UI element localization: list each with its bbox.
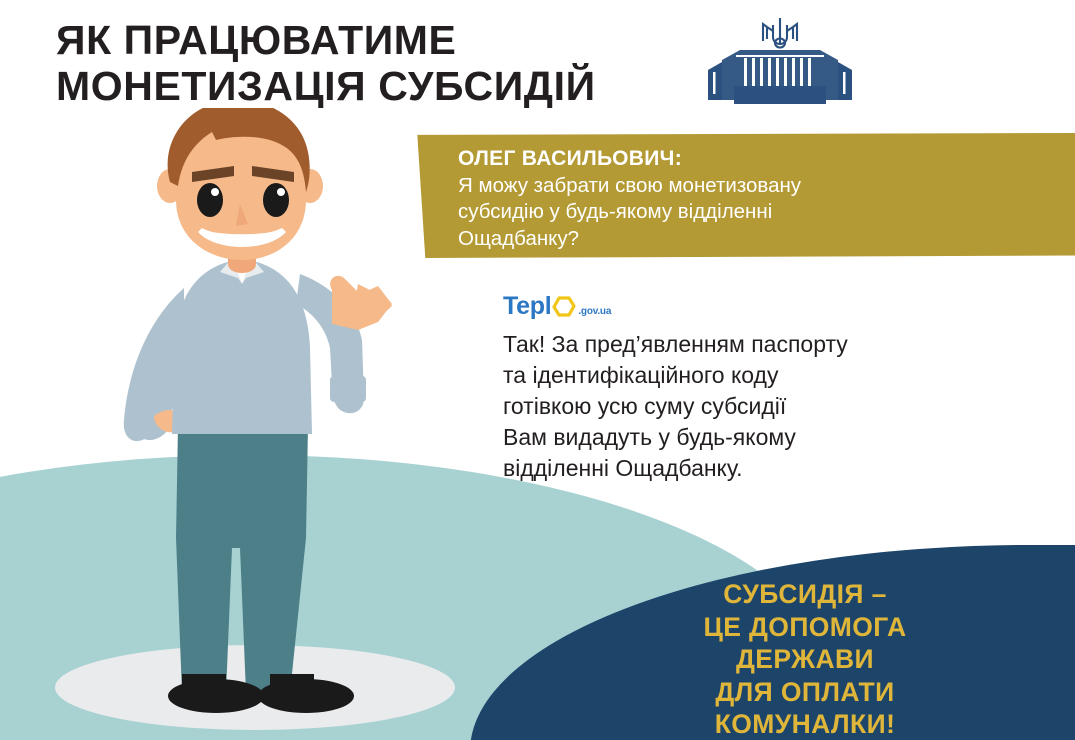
banner-line-1: СУБСИДІЯ –	[555, 578, 1055, 611]
question-speaker-name: ОЛЕГ ВАСИЛЬОВИЧ:	[458, 145, 1038, 173]
banner-line-4: ДЛЯ ОПЛАТИ	[555, 676, 1055, 709]
answer-text: Так! За пред’явленням паспорту та іденти…	[503, 329, 1003, 484]
banner-slogan: СУБСИДІЯ – ЦЕ ДОПОМОГА ДЕРЖАВИ ДЛЯ ОПЛАТ…	[555, 578, 1055, 740]
banner-line-5: КОМУНАЛКИ!	[555, 708, 1055, 740]
title-line-1: ЯК ПРАЦЮВАТИМЕ	[56, 18, 596, 64]
title-line-2: МОНЕТИЗАЦІЯ СУБСИДІЙ	[56, 64, 596, 110]
pointing-hand	[330, 276, 392, 330]
answer-line-5: відділенні Ощадбанку.	[503, 453, 1003, 484]
answer-line-2: та ідентифікаційного коду	[503, 360, 1003, 391]
question-line-1: Я можу забрати свою монетизовану	[458, 173, 1038, 199]
banner-line-2: ЦЕ ДОПОМОГА	[555, 611, 1055, 644]
page-title: ЯК ПРАЦЮВАТИМЕ МОНЕТИЗАЦІЯ СУБСИДІЙ	[56, 18, 596, 110]
hexagon-o-icon	[552, 296, 576, 318]
character-illustration-man	[120, 108, 440, 728]
trousers	[176, 426, 308, 693]
logo-wordmark: Tepl	[503, 294, 551, 319]
question-line-3: Ощадбанку?	[458, 226, 1038, 252]
banner-line-3: ДЕРЖАВИ	[555, 643, 1055, 676]
infographic-poster: ЯК ПРАЦЮВАТИМЕ МОНЕТИЗАЦІЯ СУБСИДІЙ	[0, 0, 1075, 740]
question-line-2: субсидію у будь-якому відділенні	[458, 199, 1038, 225]
question-callout-box: ОЛЕГ ВАСИЛЬОВИЧ: Я можу забрати свою мон…	[410, 133, 1075, 258]
answer-line-3: готівкою усю суму субсидії	[503, 391, 1003, 422]
answer-line-1: Так! За пред’явленням паспорту	[503, 329, 1003, 360]
teplo-logo[interactable]: Tepl .gov.ua	[503, 294, 611, 319]
torso-sweater	[172, 254, 312, 434]
logo-tld: .gov.ua	[578, 306, 611, 317]
verkhovna-rada-building-icon	[700, 14, 860, 109]
answer-line-4: Вам видадуть у будь-якому	[503, 422, 1003, 453]
